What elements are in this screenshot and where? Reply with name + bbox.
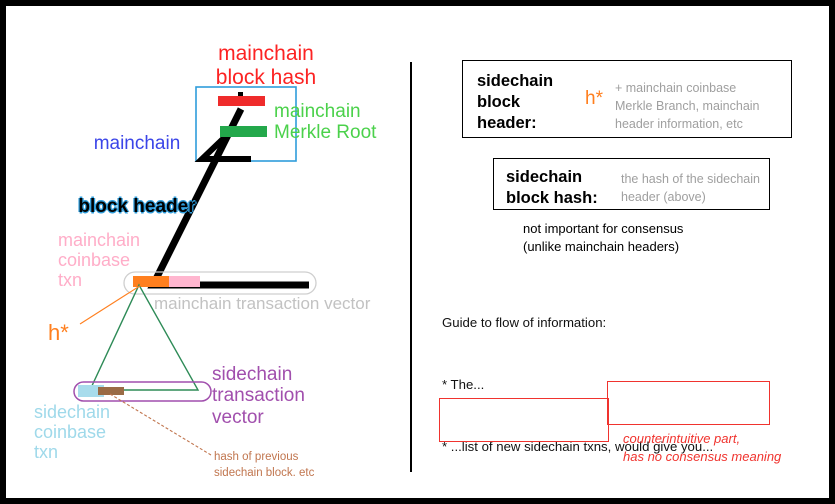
mainchain-pink-slot (169, 276, 200, 287)
mainchain-block-hash-label: mainchain block hash (186, 42, 346, 89)
guide-item: * ...sidechain hashMerkleRoot (aka h*), … (442, 499, 810, 504)
which-would-give-you-highlight-box (607, 381, 770, 425)
sidechain-header-extras-note: + mainchain coinbase Merkle Branch, main… (615, 81, 760, 131)
mainchain-block-header-label-line2: block header (72, 196, 202, 217)
sidechain-lines-highlight-box (439, 398, 609, 442)
sidechain-coinbase-txn-label: sidechain coinbase txn (34, 402, 154, 462)
not-important-for-consensus-note: not important for consensus (unlike main… (523, 220, 683, 256)
guide-item-text: * ...sidechain hashMerkleRoot (aka h*), … (442, 501, 810, 504)
mainchain-merkle-root-label: mainchain Merkle Root (274, 101, 404, 144)
sidechain-block-hash-definition-box: sidechain block hash: the hash of the si… (493, 158, 770, 210)
mainchain-merkle-root-bar (220, 126, 267, 137)
sidechain-prev-hash-slot (98, 387, 124, 395)
counterintuitive-note: counterintuitive part, has no consensus … (623, 430, 781, 466)
mainchain-block-hash-bar (218, 96, 265, 106)
previous-sidechain-block-hash-note: hash of previous sidechain block. etc (214, 450, 314, 481)
mainchain-coinbase-txn-label: mainchain coinbase txn (58, 230, 168, 290)
mainchain-block-header-label-line1: mainchain (72, 133, 202, 154)
mainchain-transaction-vector-label: mainchain transaction vector (154, 294, 370, 313)
mainchain-header-triangle (202, 136, 251, 159)
sidechain-block-hash-note: the hash of the sidechain header (above) (621, 172, 760, 204)
h-star-label: h* (48, 321, 69, 346)
panel-divider (410, 62, 412, 472)
sidechain-header-h-star: h* (585, 88, 603, 109)
guide-title: Guide to flow of information: (442, 313, 810, 334)
guide-item-text: * The... (442, 377, 484, 392)
sidechain-block-header-term: sidechain block header: (477, 72, 553, 132)
diagram-canvas: mainchain block hash mainchain block hea… (0, 0, 835, 504)
sidechain-block-header-definition-box: sidechain block header: h* + mainchain c… (462, 60, 792, 138)
sidechain-block-hash-term: sidechain block hash: (506, 168, 598, 207)
sidechain-transaction-vector-label: sidechain transaction vector (212, 364, 342, 428)
